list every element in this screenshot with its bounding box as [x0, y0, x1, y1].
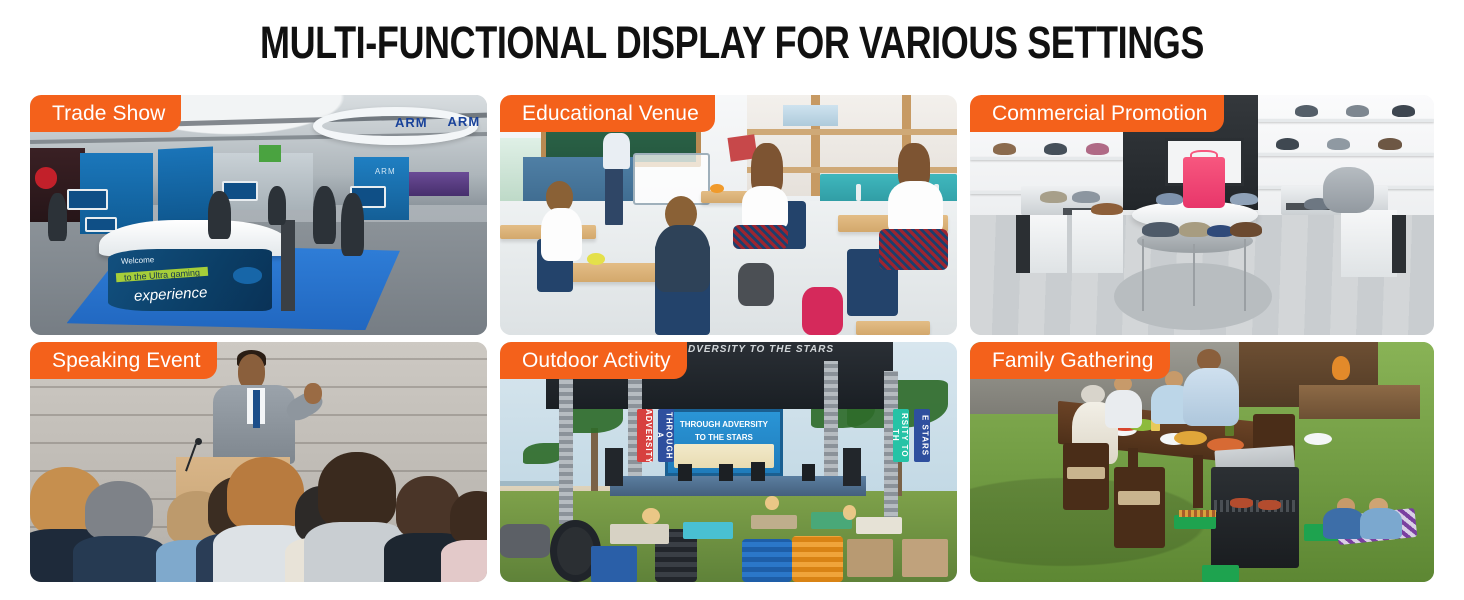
lounge-seat-1 — [751, 515, 797, 529]
balloon-3 — [843, 505, 857, 519]
audience-9-shoulders — [441, 540, 487, 582]
purple-booth-right — [405, 172, 469, 196]
panel-commercial-promotion[interactable]: Commercial Promotion — [970, 95, 1434, 335]
teacher-upper — [603, 133, 630, 169]
truss-tower-1 — [559, 376, 573, 525]
audience-2-head — [85, 481, 154, 539]
person-2-body — [1105, 390, 1142, 428]
panel-label-educational-venue: Educational Venue — [500, 95, 715, 132]
lower-tray — [1202, 565, 1239, 582]
wall-shoe-8 — [1346, 105, 1369, 117]
sponsor-badge — [233, 267, 263, 283]
panel-label-speaking-event: Speaking Event — [30, 342, 217, 379]
backpack-1 — [738, 263, 775, 306]
shelf-right-1 — [1258, 119, 1434, 122]
panel-family-gathering[interactable]: Family Gathering — [970, 342, 1434, 582]
blue-booth-back — [158, 146, 213, 228]
balloon-2 — [765, 496, 779, 510]
steak-2 — [1258, 500, 1281, 510]
table2-shoe-1 — [1142, 222, 1179, 236]
speaker-stack-left — [605, 448, 623, 486]
speaker-stack-right — [843, 448, 861, 486]
grill-body — [1211, 467, 1299, 568]
table-leg-1 — [1142, 239, 1144, 311]
promo-experience-text: experience — [134, 284, 208, 305]
food-platter-1 — [1174, 431, 1206, 445]
audience-7-head — [318, 452, 396, 527]
wall-shoe-5 — [1044, 143, 1067, 155]
wall-shoe-11 — [1327, 138, 1350, 150]
panel-label-trade-show: Trade Show — [30, 95, 181, 132]
stage-platform — [610, 476, 866, 495]
cabinet-handle-1 — [856, 184, 861, 201]
grill-grate — [1214, 500, 1298, 512]
student-3-body — [742, 186, 788, 229]
performer-4 — [802, 464, 816, 481]
audience-member-9 — [450, 491, 487, 582]
audience-member-2 — [85, 481, 154, 582]
banner-2: THROUGH A — [658, 409, 674, 462]
panel-label-outdoor-activity: Outdoor Activity — [500, 342, 687, 379]
banner-1: ADVERSITY — [637, 409, 653, 462]
crate-wood-1 — [847, 539, 893, 577]
student-1-body — [541, 208, 582, 261]
arm-sign-left-text: ARM — [395, 115, 428, 130]
bench-shoe-3 — [1091, 203, 1123, 215]
promo-graphic-wrap: Welcome to the Ultra gaming experience — [108, 249, 273, 311]
table2-shoe-4 — [1230, 222, 1262, 236]
palm-trunk-1 — [591, 428, 597, 490]
kebab-skewers — [1179, 510, 1216, 517]
screen-line-2: TO THE STARS — [677, 433, 772, 442]
gray-handbag — [1323, 167, 1374, 213]
panel-outdoor-activity[interactable]: THROUGH ADVERSITY TO THE STARS THROUGH A… — [500, 342, 957, 582]
display-screen-1 — [67, 189, 108, 211]
screen-line-1: THROUGH ADVERSITY — [677, 420, 772, 429]
panel-label-family-gathering: Family Gathering — [970, 342, 1170, 379]
attendee-1 — [208, 191, 231, 239]
shelf-board-1 — [747, 129, 957, 135]
wall-shoe-7 — [1392, 105, 1415, 117]
microphone-head — [195, 438, 202, 445]
speaker-tie — [253, 390, 260, 428]
student-2-body — [655, 225, 710, 292]
lounge-seat-2 — [856, 517, 902, 534]
table-leg-3 — [1193, 244, 1195, 306]
student-3-skirt — [733, 225, 788, 249]
student-4-body — [888, 181, 943, 234]
crate-wood-2 — [902, 539, 948, 577]
performer-1 — [678, 464, 692, 481]
shelf-books-1 — [783, 105, 838, 127]
shelf-left-2 — [970, 157, 1123, 160]
green-booth-sign — [259, 145, 282, 162]
attendee-4 — [48, 193, 66, 241]
bench-shoe-2 — [1072, 191, 1100, 203]
balloon-1 — [642, 508, 660, 525]
wall-shoe-4 — [993, 143, 1016, 155]
audience-9-head — [450, 491, 487, 544]
laptop-screen — [85, 217, 117, 231]
arm-booth-logo-text: ARM — [375, 167, 396, 176]
attendee-5 — [268, 186, 286, 224]
podium-left-shadow — [1016, 215, 1030, 273]
steak-1 — [1230, 498, 1253, 508]
audience-2-shoulders — [73, 536, 166, 582]
lounge-seat-teal — [683, 522, 733, 539]
arm-sign-right-text: ARM — [448, 114, 481, 129]
desk-4 — [559, 263, 660, 282]
backpack-2 — [802, 287, 843, 335]
person-4-body — [1183, 368, 1239, 426]
lounge-table-1 — [610, 524, 669, 543]
scenario-grid: ARM ARM ARM Welcome — [30, 95, 1434, 582]
audience-5-head — [227, 457, 305, 529]
promo-banner: MULTI-FUNCTIONAL DISPLAY FOR VARIOUS SET… — [0, 0, 1464, 600]
table-shoe-1 — [1156, 193, 1184, 205]
red-logo-left — [35, 167, 58, 189]
drum-blue — [742, 539, 792, 582]
chair-2 — [1114, 467, 1165, 549]
banner-3: RSITY TO TH — [893, 409, 909, 462]
student-4-skirt — [879, 229, 948, 270]
chair-2-pad — [1118, 491, 1160, 505]
attendee-3 — [341, 193, 364, 255]
desk-5 — [856, 321, 929, 335]
wall-shoe-9 — [1295, 105, 1318, 117]
pink-tote-bag — [1183, 157, 1225, 207]
page-title: MULTI-FUNCTIONAL DISPLAY FOR VARIOUS SET… — [146, 17, 1317, 69]
hanging-lantern — [1332, 356, 1351, 380]
teacher-lower — [605, 165, 623, 225]
person-5-body — [1323, 508, 1365, 539]
panel-label-commercial-promotion: Commercial Promotion — [970, 95, 1224, 132]
whiteboard-cart — [633, 153, 711, 206]
wall-shoe-12 — [1276, 138, 1299, 150]
podium-right-shadow — [1392, 215, 1406, 273]
beanbag-1 — [500, 524, 550, 558]
panel-speaking-event[interactable]: Speaking Event — [30, 342, 487, 582]
person-6-body — [1360, 508, 1402, 539]
wall-shoe-6 — [1086, 143, 1109, 155]
performer-3 — [751, 462, 765, 481]
banner-4: E STARS — [914, 409, 930, 462]
podium-left-2 — [1072, 210, 1123, 272]
podium-right-1 — [1341, 210, 1397, 277]
table-shoe-2 — [1230, 193, 1258, 205]
table-leg-2 — [1193, 455, 1203, 508]
panel-educational-venue[interactable]: Pa.b — [500, 95, 957, 335]
attendee-2 — [313, 186, 336, 244]
drum-orange — [792, 536, 842, 582]
panel-trade-show[interactable]: ARM ARM ARM Welcome — [30, 95, 487, 335]
shelf-right-2 — [1258, 153, 1434, 156]
promo-tagline-text: to the Ultra gaming — [124, 268, 201, 283]
bench-shoe-1 — [1040, 191, 1068, 203]
performer-2 — [719, 464, 733, 481]
promo-welcome-text: Welcome — [121, 255, 155, 266]
crate-blue — [591, 546, 637, 582]
table-leg-2 — [1244, 239, 1246, 311]
wooden-deck — [1299, 385, 1420, 419]
chair-1-pad — [1067, 467, 1104, 479]
literature-tower — [281, 220, 295, 311]
wall-shoe-10 — [1378, 138, 1401, 150]
